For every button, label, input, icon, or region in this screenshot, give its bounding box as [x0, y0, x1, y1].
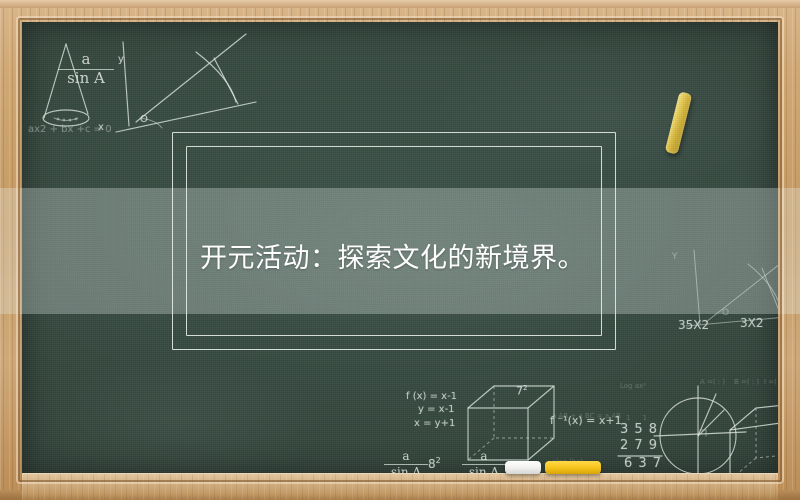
chalkboard-banner: a sin A ax2 + bx +c = 0 y x O — [0, 0, 800, 500]
chalk-angle-label-topleft: O — [140, 114, 148, 125]
fraction-numerator: a — [58, 52, 114, 68]
chalk-matrix-b: B =( : ) — [734, 378, 759, 386]
fraction-numerator: a — [462, 450, 506, 463]
chalk-function-line-2: y = x-1 — [418, 404, 455, 415]
chalk-vector-note: a AB + a BC = a AB — [552, 412, 621, 420]
chalk-log-small: Log ax² — [620, 382, 646, 390]
chalk-angle-diagram-right — [670, 240, 778, 340]
chalk-function-line-1: f (x) = x-1 — [406, 390, 457, 405]
fraction-bar — [462, 464, 506, 465]
chalk-axis-y-label-topleft: y — [118, 54, 124, 65]
chalk-angle-label-right: O — [722, 308, 729, 318]
chalk-addition-addend-2: 2 7 9 — [620, 438, 658, 453]
chalk-addition-sum: 6 3 7 — [624, 456, 662, 471]
chalk-axis-x-label-topleft: x — [98, 122, 104, 133]
chalk-exponent-seven: 72 — [516, 384, 527, 398]
chalk-cube-drawing-right — [724, 396, 778, 476]
chalk-stick-tray-white — [505, 461, 541, 474]
page-title: 开元活动：探索文化的新境界。 — [200, 236, 585, 275]
chalk-matrix-c: I =( : ) — [764, 378, 778, 386]
chalk-exponent-eight: 82 — [428, 456, 441, 471]
chalk-axis-y-label-right: Y — [672, 252, 678, 262]
chalk-fraction-a-over-sinA-topleft: a sin A — [58, 52, 114, 87]
frame-top-highlight — [0, 0, 800, 8]
fraction-numerator: a — [384, 450, 428, 463]
chalk-angle-diagram-topleft — [96, 30, 271, 148]
chalk-addition-addend-1: 3 5 8 — [620, 422, 658, 437]
fraction-denominator: sin A — [58, 71, 114, 87]
chalk-circle-diagram — [650, 380, 760, 476]
chalk-stick-tray-yellow — [545, 461, 601, 474]
chalk-function-line-3: x = y+1 — [414, 418, 455, 429]
chalk-addition-rule-line — [616, 454, 664, 458]
chalk-addition-carry-row: 1 1 — [626, 414, 652, 422]
chalk-tray — [22, 474, 778, 500]
chalk-quadratic-equation: ax2 + bx +c = 0 — [28, 124, 112, 135]
chalk-label-3x2: 3X2 — [740, 316, 764, 330]
chalk-cone-drawing — [30, 36, 100, 136]
chalk-matrix-a: A =( : ) — [700, 378, 725, 386]
chalk-inverse-function: f ⁻¹(x) = x+1 — [550, 414, 622, 427]
fraction-bar — [58, 69, 114, 70]
chalk-label-35x2: 35X2 — [678, 318, 709, 332]
chalk-cube-drawing-center — [460, 378, 570, 468]
chalk-stick-board-yellow — [665, 91, 693, 154]
fraction-bar — [384, 464, 428, 465]
